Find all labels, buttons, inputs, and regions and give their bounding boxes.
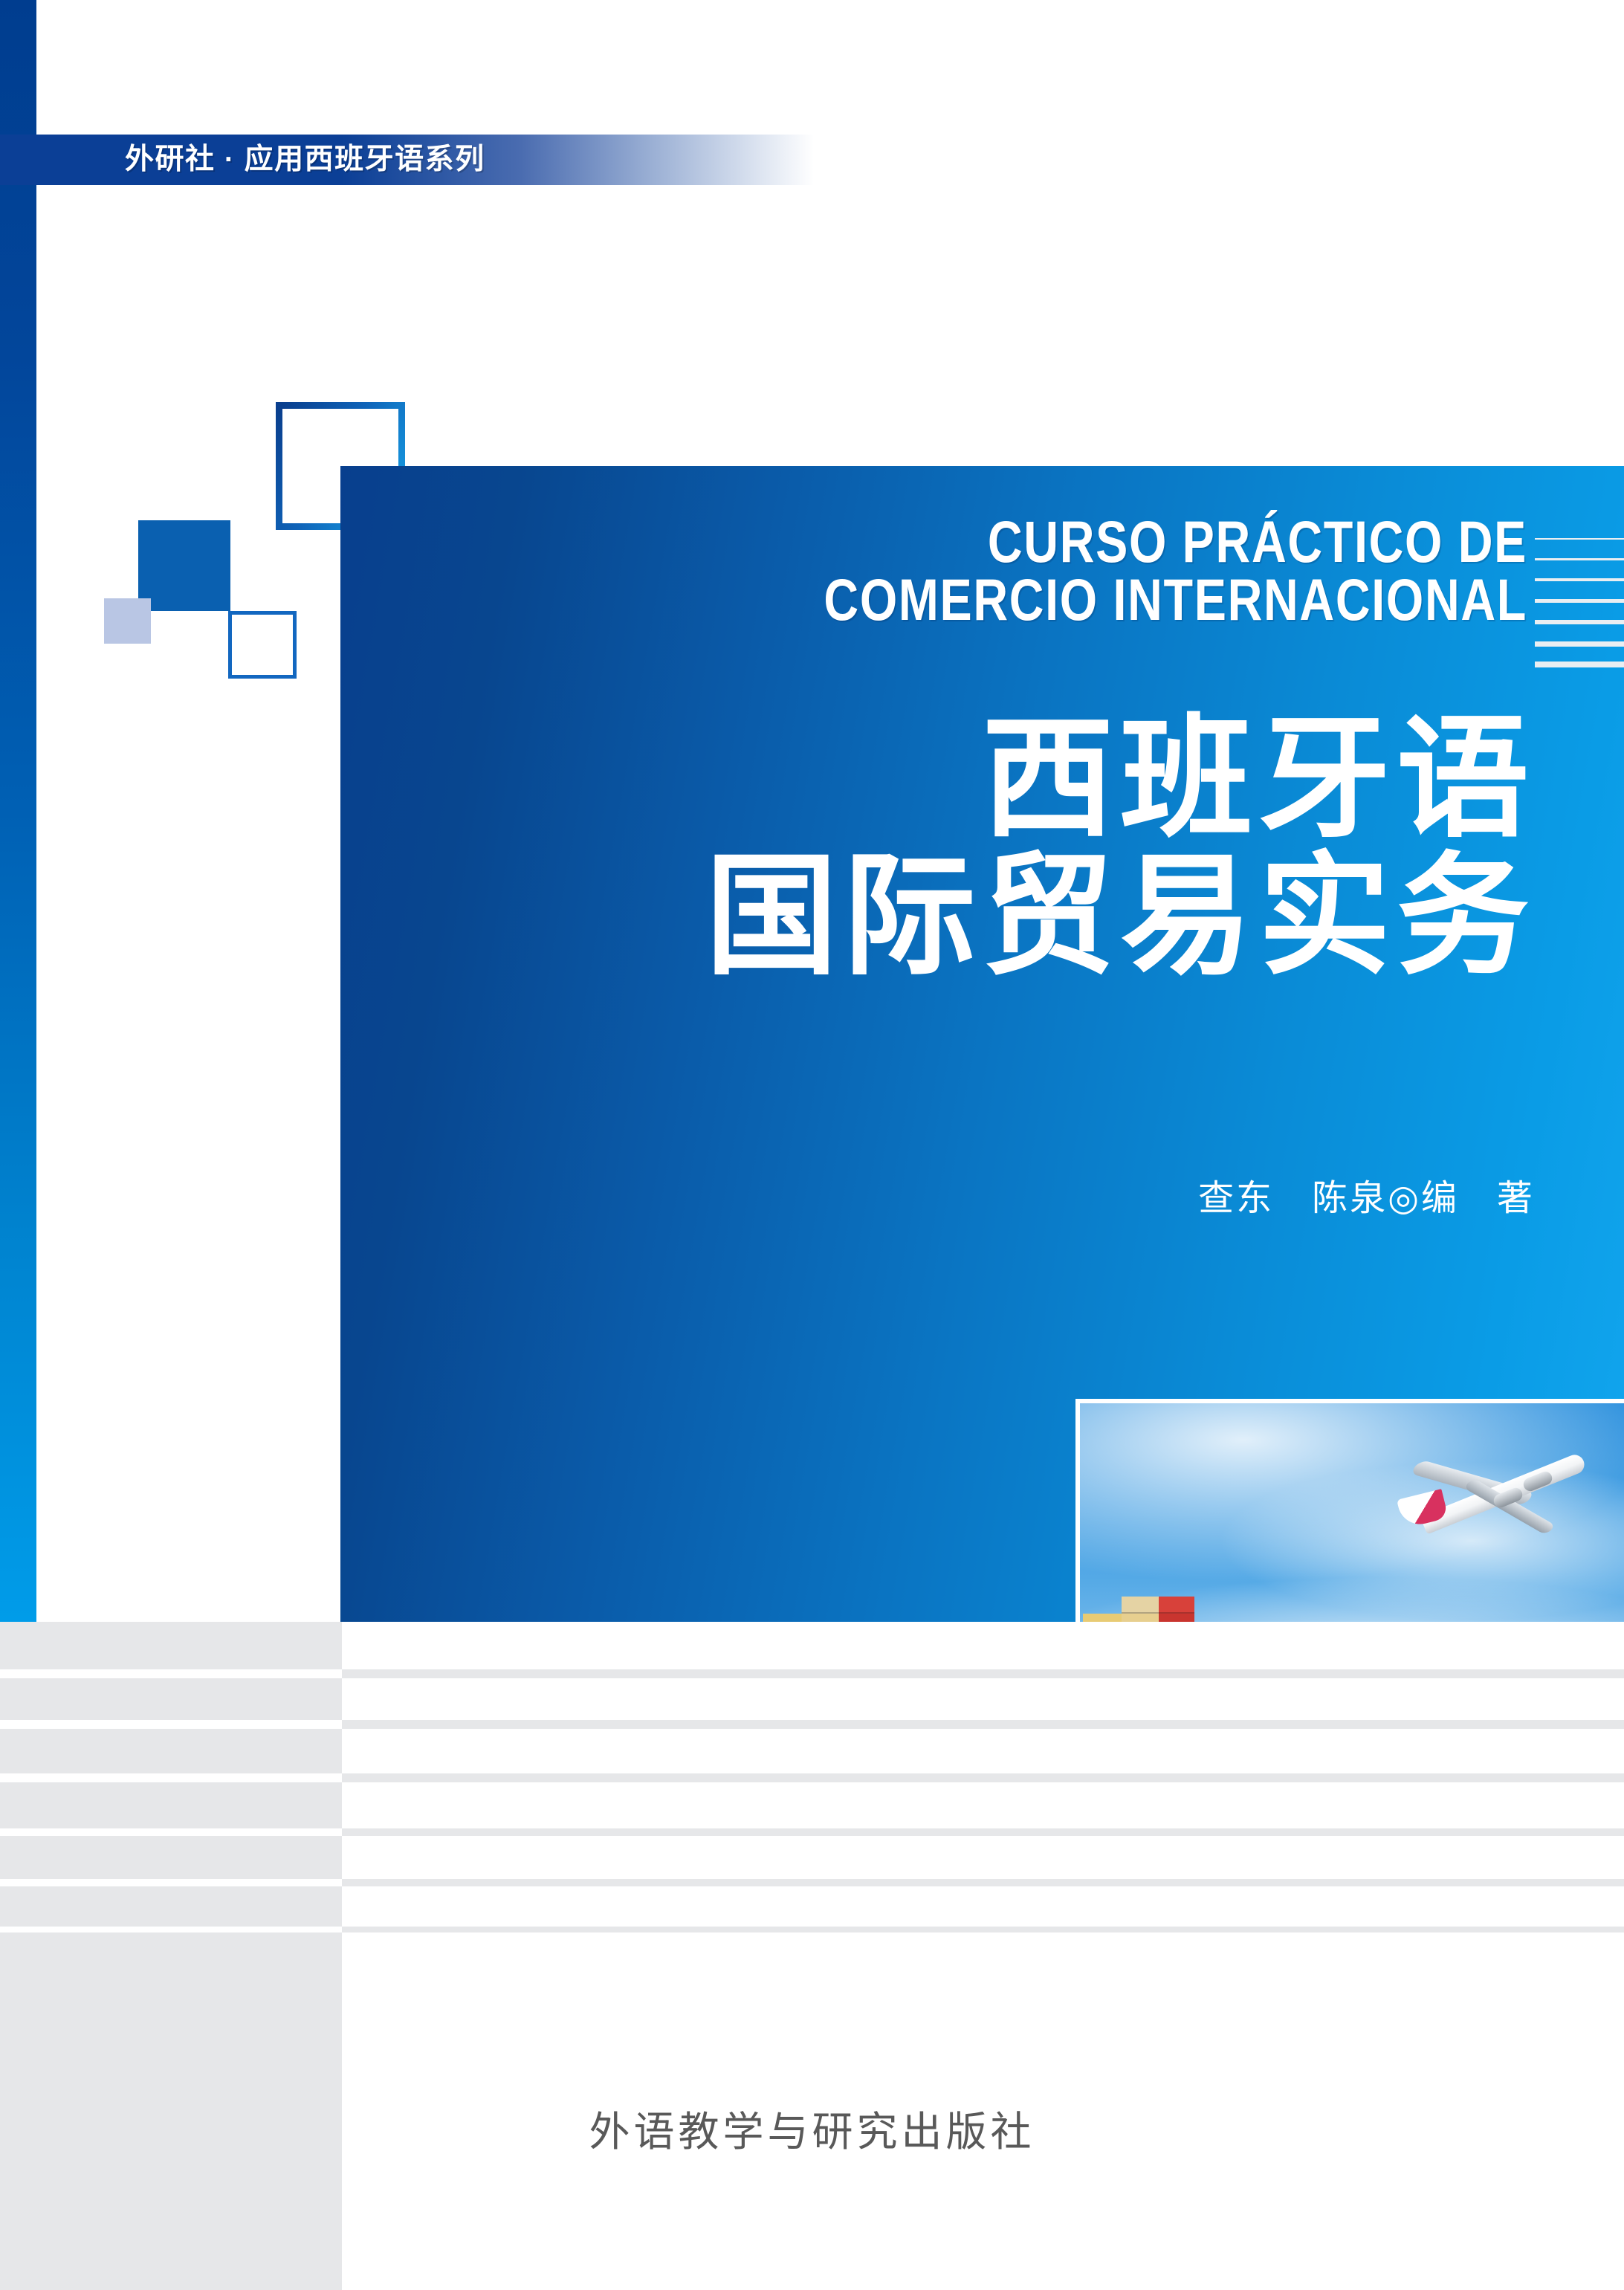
stripe-row [342, 1720, 1624, 1729]
book-cover: 外研社 · 应用西班牙语系列 CURSO PRÁCTICO DE COMERCI… [0, 0, 1624, 2290]
decor-square-solid-medium [138, 520, 230, 611]
left-gradient-strip [0, 0, 36, 1622]
series-banner-label: 外研社 · 应用西班牙语系列 [125, 137, 485, 183]
spanish-title-line-2: COMERCIO INTERNACIONAL [616, 571, 1527, 629]
stripe-row [342, 1927, 1624, 1932]
bottom-stripe-band [0, 1622, 1624, 2290]
stripe-row [0, 1678, 342, 1720]
chinese-title: 西班牙语 国际贸易实务 [386, 710, 1535, 985]
stripe-row [0, 1669, 342, 1678]
chinese-title-line-1: 西班牙语 [386, 710, 1535, 847]
stripe-row [342, 1669, 1624, 1678]
author-credit: 查东 陈泉◎编 著 [743, 1168, 1535, 1220]
stripe-row [0, 1729, 342, 1773]
stripe-row [0, 1782, 342, 1828]
stripe-row [342, 1678, 1624, 1720]
stripe-row [0, 1828, 342, 1836]
stripe-row [342, 1773, 1624, 1782]
stripe-row [342, 1886, 1624, 1927]
stripe-row [342, 1729, 1624, 1773]
airplane-icon [1398, 1442, 1606, 1553]
stripe-row [0, 1879, 342, 1886]
spanish-title: CURSO PRÁCTICO DE COMERCIO INTERNACIONAL [616, 513, 1527, 629]
stripe-row [0, 1622, 342, 1669]
stripe-row [342, 1622, 1624, 1669]
decor-rule-lines [1535, 538, 1624, 664]
stripe-row [342, 1782, 1624, 1828]
stripe-row [342, 1879, 1624, 1886]
stripe-row [0, 1773, 342, 1782]
stripe-row [0, 1886, 342, 1927]
stripe-row [342, 1828, 1624, 1836]
stripe-row [342, 1836, 1624, 1879]
decor-square-lavender-small [104, 598, 151, 644]
stripe-row [0, 1720, 342, 1729]
chinese-title-line-2: 国际贸易实务 [386, 847, 1535, 985]
decor-square-outline-small [228, 611, 297, 679]
publisher-name: 外语教学与研究出版社 [0, 2098, 1624, 2158]
spanish-title-line-1: CURSO PRÁCTICO DE [616, 513, 1527, 571]
stripe-row [0, 1836, 342, 1879]
stripe-row [0, 1927, 342, 1932]
